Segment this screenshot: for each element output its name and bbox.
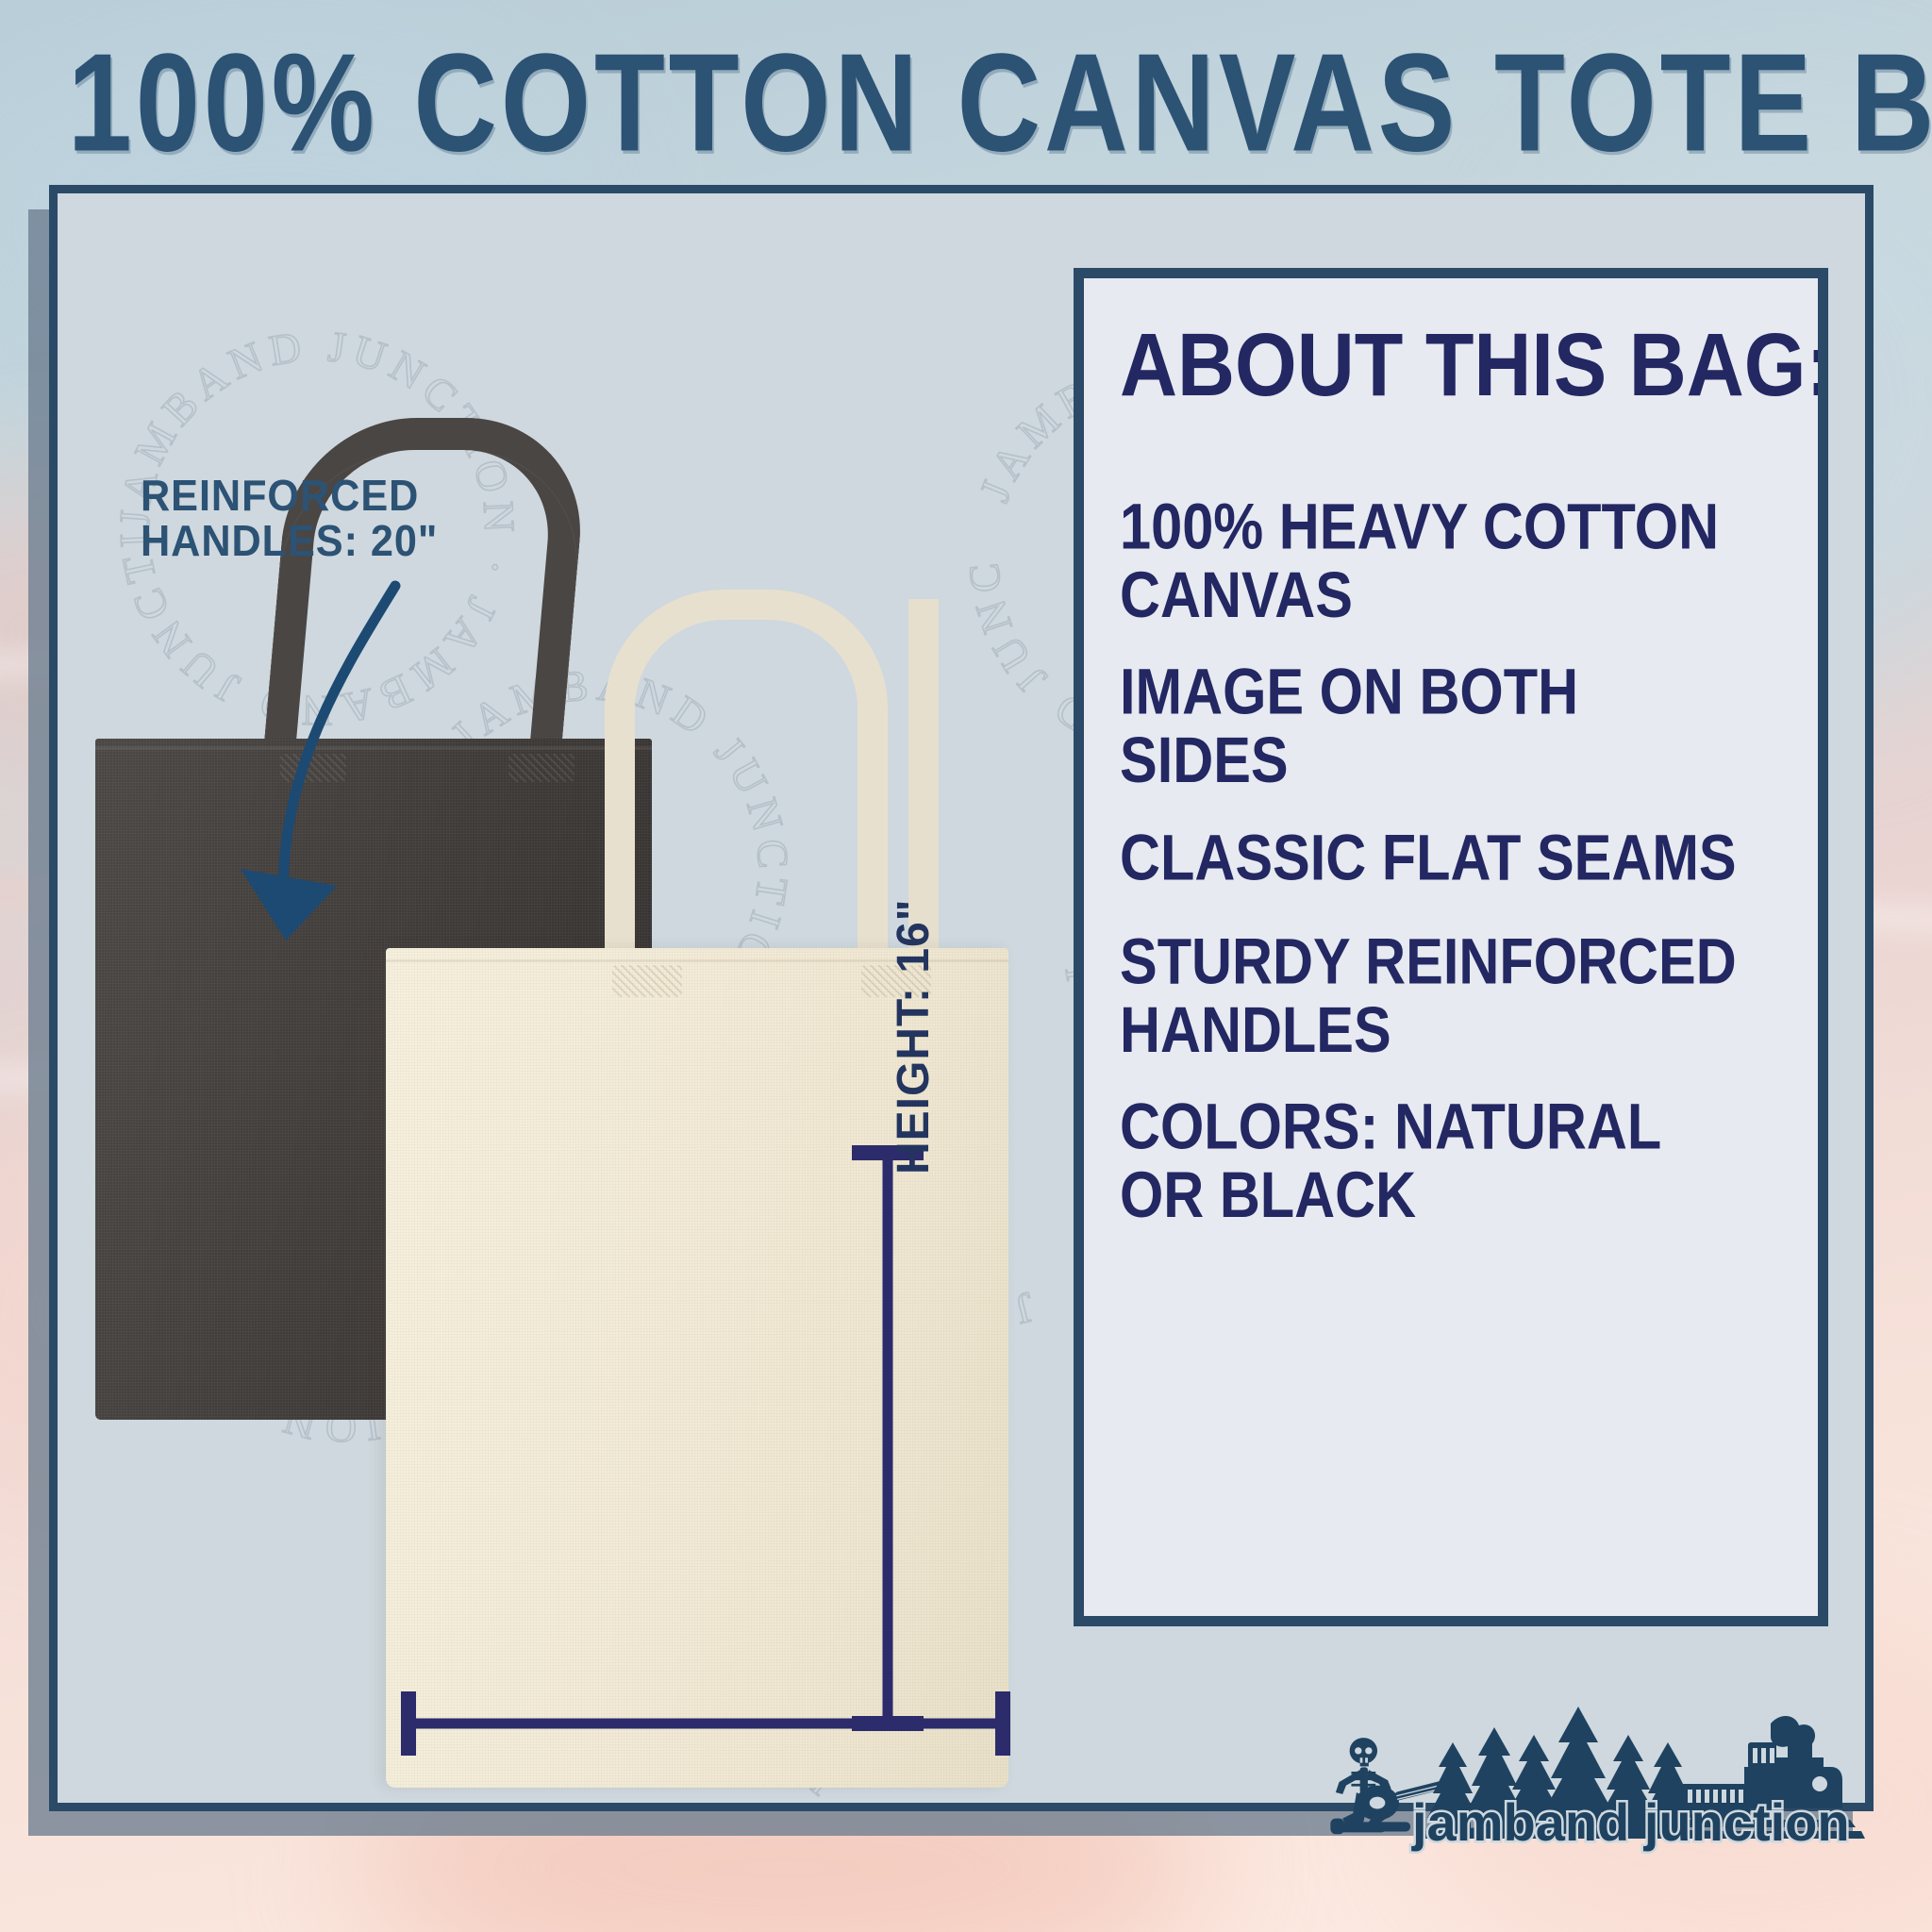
handle-stitch-patch bbox=[612, 965, 682, 997]
page-title: 100% COTTON CANVAS TOTE BAG bbox=[68, 23, 1865, 182]
product-photo-area: REINFORCED HANDLES: 20" HEIGHT: 16" WIDT… bbox=[58, 193, 1039, 1803]
logo-wordmark: jamband junction bbox=[1411, 1792, 1850, 1852]
reinforced-handles-note: REINFORCED HANDLES: 20" bbox=[141, 473, 438, 564]
about-bag-panel: ABOUT THIS BAG: 100% HEAVY COTTON CANVAS… bbox=[1074, 268, 1828, 1626]
list-item: IMAGE ON BOTH SIDES bbox=[1120, 658, 1756, 795]
handle-stitch-patch bbox=[508, 754, 575, 782]
feature-list: 100% HEAVY COTTON CANVAS IMAGE ON BOTH S… bbox=[1120, 493, 1782, 1217]
list-item: 100% HEAVY COTTON CANVAS bbox=[1120, 493, 1756, 630]
height-label: HEIGHT: 16" bbox=[888, 899, 940, 1174]
infographic-canvas: 100% COTTON CANVAS TOTE BAG JAMBAND JUNC… bbox=[0, 0, 1932, 1932]
list-item: CLASSIC FLAT SEAMS bbox=[1120, 824, 1756, 892]
width-label: WIDTH: 15" bbox=[439, 1799, 696, 1803]
about-panel-title: ABOUT THIS BAG: bbox=[1120, 320, 1756, 409]
content-frame: JAMBAND JUNCTION · JAMBAND JUNCTION · JA… bbox=[49, 185, 1874, 1811]
list-item: COLORS: NATURAL OR BLACK bbox=[1120, 1093, 1756, 1230]
list-item: STURDY REINFORCED HANDLES bbox=[1120, 928, 1756, 1065]
brand-logo: jamband junction bbox=[1322, 1652, 1888, 1869]
curved-arrow-icon bbox=[199, 571, 482, 1042]
